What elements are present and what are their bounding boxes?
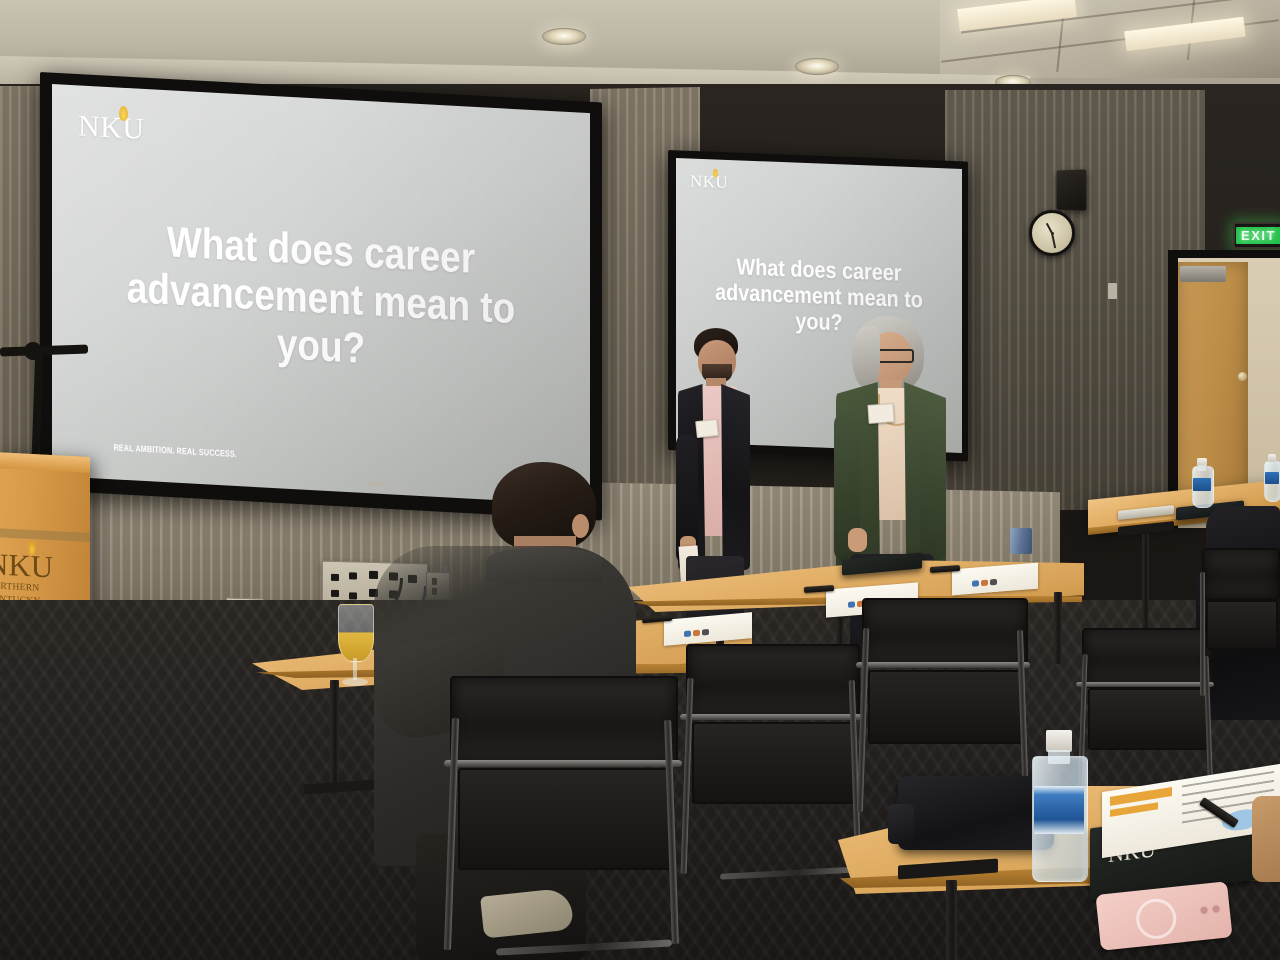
bottle-label [1193, 478, 1211, 491]
ceiling-tile-grid [940, 0, 1280, 78]
attendee-collar [486, 548, 602, 582]
slide-logo-flame-icon [119, 106, 128, 121]
exit-sign: EXIT [1233, 222, 1280, 249]
main-projection-screen: NKU What does career advancement mean to… [52, 84, 590, 505]
lectern-logo-flame-icon [28, 541, 36, 555]
presenter-female-hair-front [852, 326, 880, 388]
presenter-male-name-badge [695, 419, 719, 438]
bottle-cap [1268, 454, 1276, 462]
ceiling-panel-light [1124, 17, 1246, 51]
wall-clock [1029, 210, 1075, 256]
bottle-cap-foreground [1046, 730, 1072, 752]
wine-glass-bowl [338, 604, 374, 662]
foreground-right-table-leg [946, 880, 957, 960]
chair-front-left[interactable] [440, 676, 688, 960]
backpack-strap [888, 804, 914, 844]
handout-icon [693, 630, 700, 637]
right-wall-panel [945, 90, 1205, 510]
door-closer-hardware [1180, 266, 1226, 282]
exit-sign-label: EXIT [1236, 227, 1280, 244]
wine-glass-foot [342, 678, 368, 686]
recessed-downlight [542, 28, 586, 45]
attendee-ear [572, 514, 589, 538]
slide-title: What does career advancement mean to you… [124, 216, 518, 382]
secondary-slide-nku-logo: NKU [690, 173, 728, 191]
recessed-downlight [795, 58, 839, 75]
tan-bag-right-edge [1252, 796, 1280, 882]
wall-switch-plate[interactable] [1108, 283, 1117, 299]
bottle-label [1265, 472, 1279, 484]
clock-center-pin [1051, 232, 1054, 235]
slide-nku-logo: NKU [78, 111, 145, 145]
water-bottle-right-rear[interactable] [1192, 456, 1212, 506]
water-bottle-foreground[interactable] [1032, 730, 1086, 880]
wine-glass-stem [353, 658, 357, 680]
water-bottle-right-far[interactable] [1264, 452, 1280, 500]
presenter-female-hand [848, 528, 867, 552]
wine-glass[interactable] [336, 604, 374, 686]
handout-icon [990, 579, 997, 586]
black-backpack[interactable] [898, 776, 1054, 850]
handout-icon [972, 580, 979, 587]
door-handle[interactable] [1238, 372, 1247, 381]
ceiling-speaker [1057, 169, 1087, 210]
chair-center[interactable] [676, 644, 866, 884]
handout-icon [684, 630, 691, 637]
microphone-joint [24, 342, 42, 360]
phone-camera-icons [1199, 904, 1221, 915]
secondary-slide-logo-flame-icon [713, 168, 718, 177]
presenter-female-arm-right [920, 412, 946, 562]
bottle-label-foreground [1034, 786, 1084, 834]
handout-header-bar [1110, 787, 1172, 806]
handout-icon [702, 629, 709, 636]
presenter-female-name-badge [867, 403, 894, 424]
secondary-slide-logo-text: NKU [690, 172, 728, 192]
center-table-leg [1054, 592, 1062, 664]
slide-tagline: REAL AMBITION. REAL SUCCESS. [113, 442, 237, 459]
front-left-table-leg [330, 680, 339, 788]
presenter-female-glasses [874, 349, 914, 363]
conference-room-photo: NKU What does career advancement mean to… [0, 0, 1280, 960]
slide-logo-text: NKU [78, 109, 145, 146]
magsafe-ring-icon [1134, 897, 1178, 941]
chair-far-right[interactable] [1196, 548, 1280, 698]
handout-icon [981, 580, 988, 587]
blue-canister[interactable] [1010, 528, 1032, 554]
lectern-logo-text: NKU [0, 548, 82, 584]
clock-minute-hand [1051, 233, 1056, 248]
right-rear-table-leg [1142, 534, 1149, 630]
